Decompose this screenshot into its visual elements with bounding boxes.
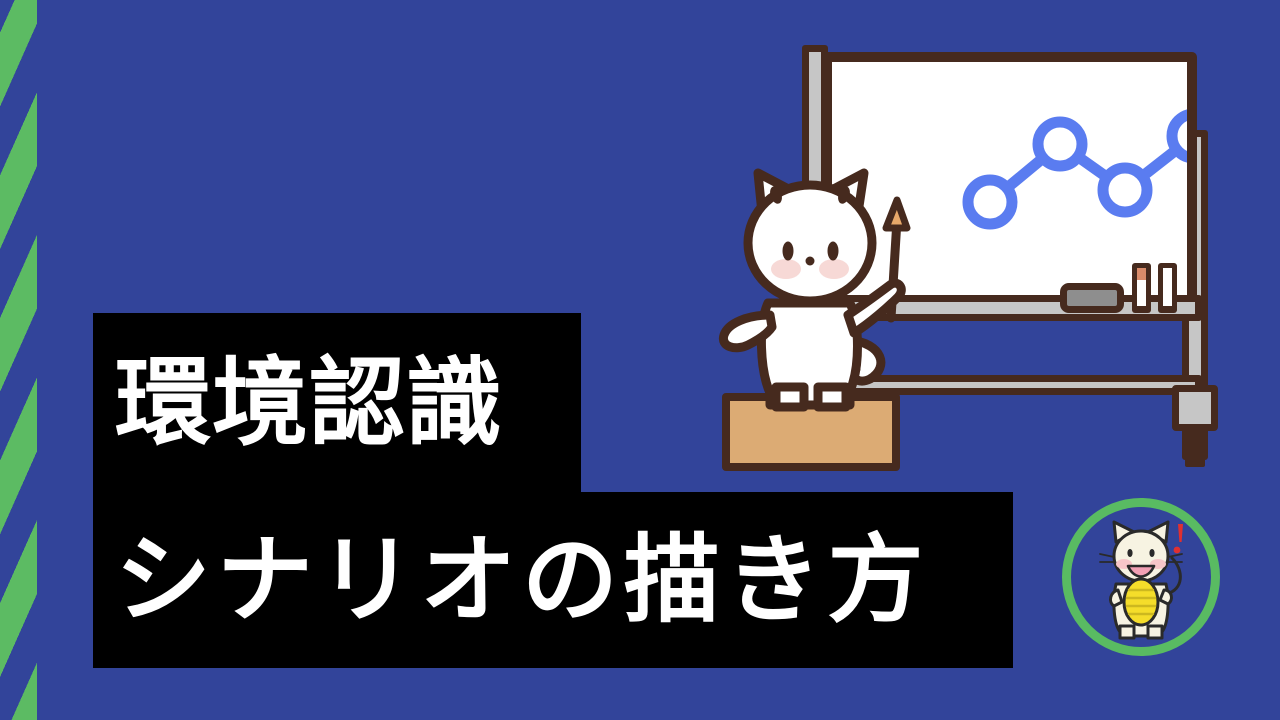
- avatar-eye-right: [1149, 549, 1154, 557]
- cat-foot-right: [818, 387, 846, 407]
- marker-pen-red-icon: [1132, 263, 1151, 313]
- exclamation-icon: [1174, 524, 1183, 553]
- green-diagonal-stripes: [0, 0, 37, 720]
- presenter-cat-figure: [700, 155, 920, 475]
- title-box-primary: 環境認識: [93, 313, 581, 492]
- chart-marker-4: [1172, 114, 1197, 158]
- cat-cheek-right: [819, 259, 849, 279]
- marker-body: [1137, 280, 1146, 306]
- presenter-cat-illustration: [700, 155, 920, 475]
- cat-eye-left: [783, 242, 794, 261]
- marker-tip: [1163, 268, 1172, 280]
- avatar-eye-left: [1127, 549, 1132, 557]
- page-title-line-2: シナリオの描き方: [115, 532, 929, 628]
- cat-foot-left: [776, 387, 804, 407]
- whiteboard-foot-stem-right: [1185, 425, 1205, 467]
- cat-avatar-badge: [1062, 498, 1220, 656]
- slide-canvas: 環境認識 シナリオの描き方: [0, 0, 1280, 720]
- title-box-secondary: シナリオの描き方: [93, 492, 1013, 668]
- cat-nose: [806, 257, 815, 266]
- cat-eye-right: [828, 242, 839, 261]
- chart-marker-1: [968, 180, 1012, 224]
- marker-pen-white-icon: [1158, 263, 1177, 313]
- avatar-cat-arm-right: [1160, 590, 1171, 604]
- avatar-cat-foot-left: [1120, 626, 1134, 638]
- chart-marker-3: [1103, 168, 1147, 212]
- cat-cheek-left: [771, 259, 801, 279]
- avatar-cat-figure: [1062, 498, 1220, 656]
- marker-body: [1163, 280, 1172, 306]
- chart-marker-2: [1038, 122, 1082, 166]
- page-title-line-1: 環境認識: [115, 355, 503, 451]
- eraser-icon: [1060, 283, 1124, 313]
- stripe-pattern: [0, 0, 37, 720]
- marker-tip: [1137, 268, 1146, 280]
- chart-line: [990, 136, 1194, 202]
- cat-head: [748, 185, 872, 301]
- avatar-cat-foot-right: [1148, 626, 1162, 638]
- cat-arm-right: [848, 283, 901, 333]
- avatar-cat-arm-left: [1111, 590, 1122, 606]
- avatar-belly: [1124, 579, 1158, 625]
